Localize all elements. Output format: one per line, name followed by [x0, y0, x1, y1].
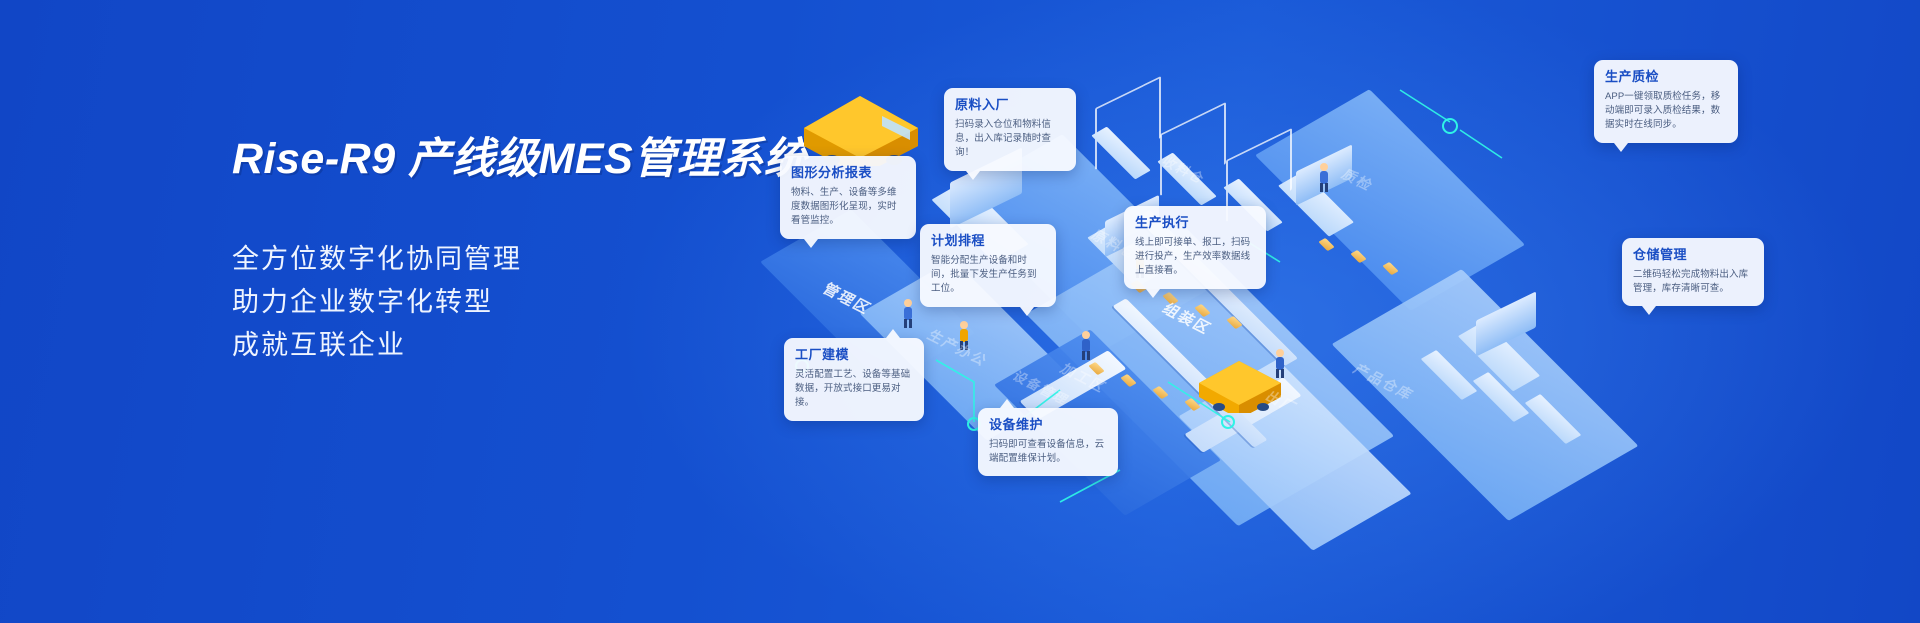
card-description: 线上即可接单、报工，扫码进行投产，生产效率数据线上直接看。: [1135, 236, 1255, 279]
callout-card-graph-analysis[interactable]: 图形分析报表 物料、生产、设备等多维度数据图形化呈现，实时看管监控。: [780, 156, 916, 239]
card-pointer: [804, 239, 818, 248]
page-title: Rise-R9 产线级MES管理系统: [232, 124, 832, 186]
card-description: 智能分配生产设备和时间，批量下发生产任务到工位。: [931, 254, 1045, 297]
card-pointer: [886, 329, 900, 338]
card-title: 生产执行: [1135, 215, 1255, 231]
card-title: 图形分析报表: [791, 165, 905, 181]
card-pointer: [1642, 306, 1656, 315]
card-description: 扫码即可查看设备信息，云端配置维保计划。: [989, 438, 1107, 467]
network-connectors: [760, 30, 1920, 590]
subtitle-line-1: 全方位数字化协同管理: [232, 238, 832, 281]
card-title: 原料入厂: [955, 97, 1065, 113]
card-description: 扫码录入仓位和物料信息，出入库记录随时查询！: [955, 118, 1065, 161]
card-title: 计划排程: [931, 233, 1045, 249]
card-description: APP一键领取质检任务，移动端即可录入质检结果，数据实时在线同步。: [1605, 90, 1727, 133]
card-description: 物料、生产、设备等多维度数据图形化呈现，实时看管监控。: [791, 186, 905, 229]
card-pointer: [1614, 143, 1628, 152]
card-title: 生产质检: [1605, 69, 1727, 85]
card-pointer: [966, 171, 980, 180]
subtitle-line-2: 助力企业数字化转型: [232, 281, 832, 324]
card-title: 设备维护: [989, 417, 1107, 433]
callout-card-plan-scheduling[interactable]: 计划排程 智能分配生产设备和时间，批量下发生产任务到工位。: [920, 224, 1056, 307]
subtitle-line-3: 成就互联企业: [232, 324, 832, 367]
card-pointer: [1020, 307, 1034, 316]
callout-card-warehouse-management[interactable]: 仓储管理 二维码轻松完成物料出入库管理，库存清晰可查。: [1622, 238, 1764, 306]
hero-copy: Rise-R9 产线级MES管理系统 全方位数字化协同管理 助力企业数字化转型 …: [232, 124, 832, 367]
card-pointer: [1000, 399, 1014, 408]
card-title: 工厂建模: [795, 347, 913, 363]
card-description: 二维码轻松完成物料出入库管理，库存清晰可查。: [1633, 268, 1753, 297]
isometric-factory-illustration: 管理区 生产办公 原料仓库 组装区 加工区 质检 出厂 产品仓库 设备管理 收料…: [760, 30, 1920, 590]
callout-card-quality-inspection[interactable]: 生产质检 APP一键领取质检任务，移动端即可录入质检结果，数据实时在线同步。: [1594, 60, 1738, 143]
callout-card-production-execution[interactable]: 生产执行 线上即可接单、报工，扫码进行投产，生产效率数据线上直接看。: [1124, 206, 1266, 289]
callout-card-factory-modeling[interactable]: 工厂建模 灵活配置工艺、设备等基础数据，开放式接口更易对接。: [784, 338, 924, 421]
card-pointer: [1146, 289, 1160, 298]
callout-card-material-inbound[interactable]: 原料入厂 扫码录入仓位和物料信息，出入库记录随时查询！: [944, 88, 1076, 171]
hero-subtitle: 全方位数字化协同管理 助力企业数字化转型 成就互联企业: [232, 238, 832, 367]
callout-card-equipment-maintenance[interactable]: 设备维护 扫码即可查看设备信息，云端配置维保计划。: [978, 408, 1118, 476]
hero-banner: Rise-R9 产线级MES管理系统 全方位数字化协同管理 助力企业数字化转型 …: [0, 0, 1920, 623]
card-description: 灵活配置工艺、设备等基础数据，开放式接口更易对接。: [795, 368, 913, 411]
card-title: 仓储管理: [1633, 247, 1753, 263]
